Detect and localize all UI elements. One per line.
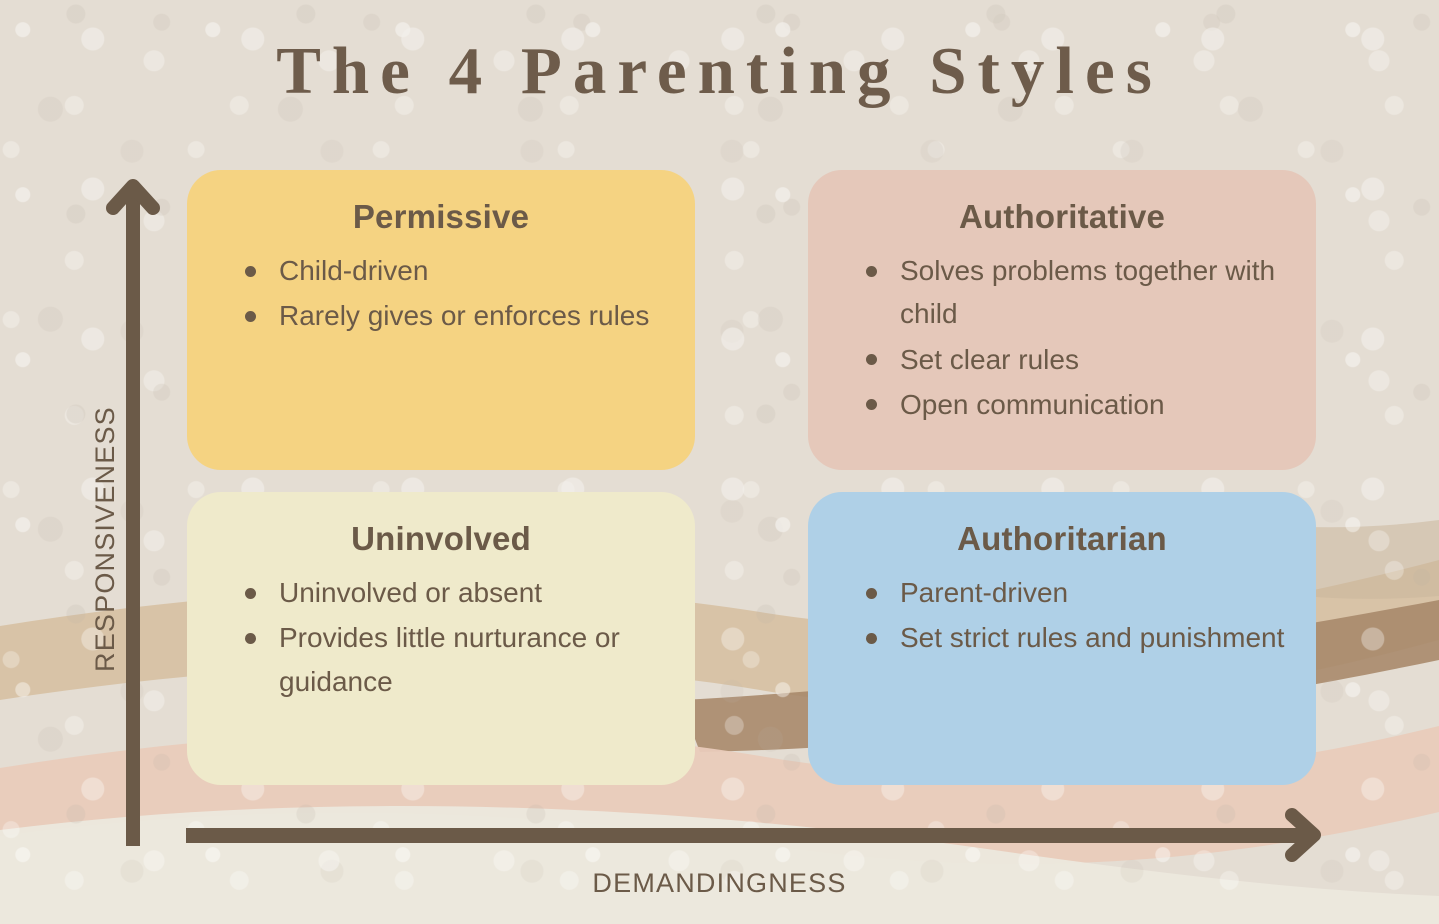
list-item: Child-driven <box>245 249 669 292</box>
quadrant-bullet-list: Solves problems together with child Set … <box>834 249 1290 425</box>
quadrant-title: Permissive <box>213 199 669 235</box>
list-item-text: Provides little nurturance or guidance <box>279 622 620 696</box>
quadrant-bullet-list: Uninvolved or absent Provides little nur… <box>213 571 669 702</box>
list-item: Set strict rules and punishment <box>866 616 1290 659</box>
list-item-text: Set clear rules <box>900 344 1079 375</box>
y-axis-label: RESPONSIVENESS <box>90 406 121 672</box>
arrow-right-icon <box>1268 805 1328 865</box>
quadrant-title: Authoritarian <box>834 521 1290 557</box>
list-item: Rarely gives or enforces rules <box>245 294 669 337</box>
bullet-icon <box>866 633 877 644</box>
bullet-icon <box>866 266 877 277</box>
bullet-icon <box>245 311 256 322</box>
list-item-text: Rarely gives or enforces rules <box>279 300 649 331</box>
bullet-icon <box>866 354 877 365</box>
page-title: The 4 Parenting Styles <box>0 33 1439 110</box>
bullet-icon <box>245 588 256 599</box>
list-item-text: Uninvolved or absent <box>279 577 542 608</box>
list-item-text: Solves problems together with child <box>900 255 1275 329</box>
bullet-icon <box>245 633 256 644</box>
list-item: Set clear rules <box>866 338 1290 381</box>
quadrant-authoritative[interactable]: Authoritative Solves problems together w… <box>808 170 1316 470</box>
list-item-text: Parent-driven <box>900 577 1068 608</box>
x-axis-line <box>186 828 1306 843</box>
quadrant-title: Uninvolved <box>213 521 669 557</box>
quadrant-title: Authoritative <box>834 199 1290 235</box>
bullet-icon <box>866 588 877 599</box>
list-item-text: Open communication <box>900 389 1165 420</box>
y-axis-line <box>126 196 140 846</box>
infographic-canvas: The 4 Parenting Styles RESPONSIVENESS DE… <box>0 0 1439 924</box>
arrow-up-icon <box>103 172 163 232</box>
x-axis-label: DEMANDINGNESS <box>0 868 1439 899</box>
list-item: Parent-driven <box>866 571 1290 614</box>
quadrant-uninvolved[interactable]: Uninvolved Uninvolved or absent Provides… <box>187 492 695 785</box>
bullet-icon <box>866 399 877 410</box>
quadrant-bullet-list: Child-driven Rarely gives or enforces ru… <box>213 249 669 337</box>
quadrant-authoritarian[interactable]: Authoritarian Parent-driven Set strict r… <box>808 492 1316 785</box>
list-item: Open communication <box>866 383 1290 426</box>
list-item-text: Child-driven <box>279 255 428 286</box>
list-item: Solves problems together with child <box>866 249 1290 335</box>
quadrant-permissive[interactable]: Permissive Child-driven Rarely gives or … <box>187 170 695 470</box>
quadrant-bullet-list: Parent-driven Set strict rules and punis… <box>834 571 1290 659</box>
list-item-text: Set strict rules and punishment <box>900 622 1284 653</box>
list-item: Provides little nurturance or guidance <box>245 616 669 702</box>
bullet-icon <box>245 266 256 277</box>
list-item: Uninvolved or absent <box>245 571 669 614</box>
